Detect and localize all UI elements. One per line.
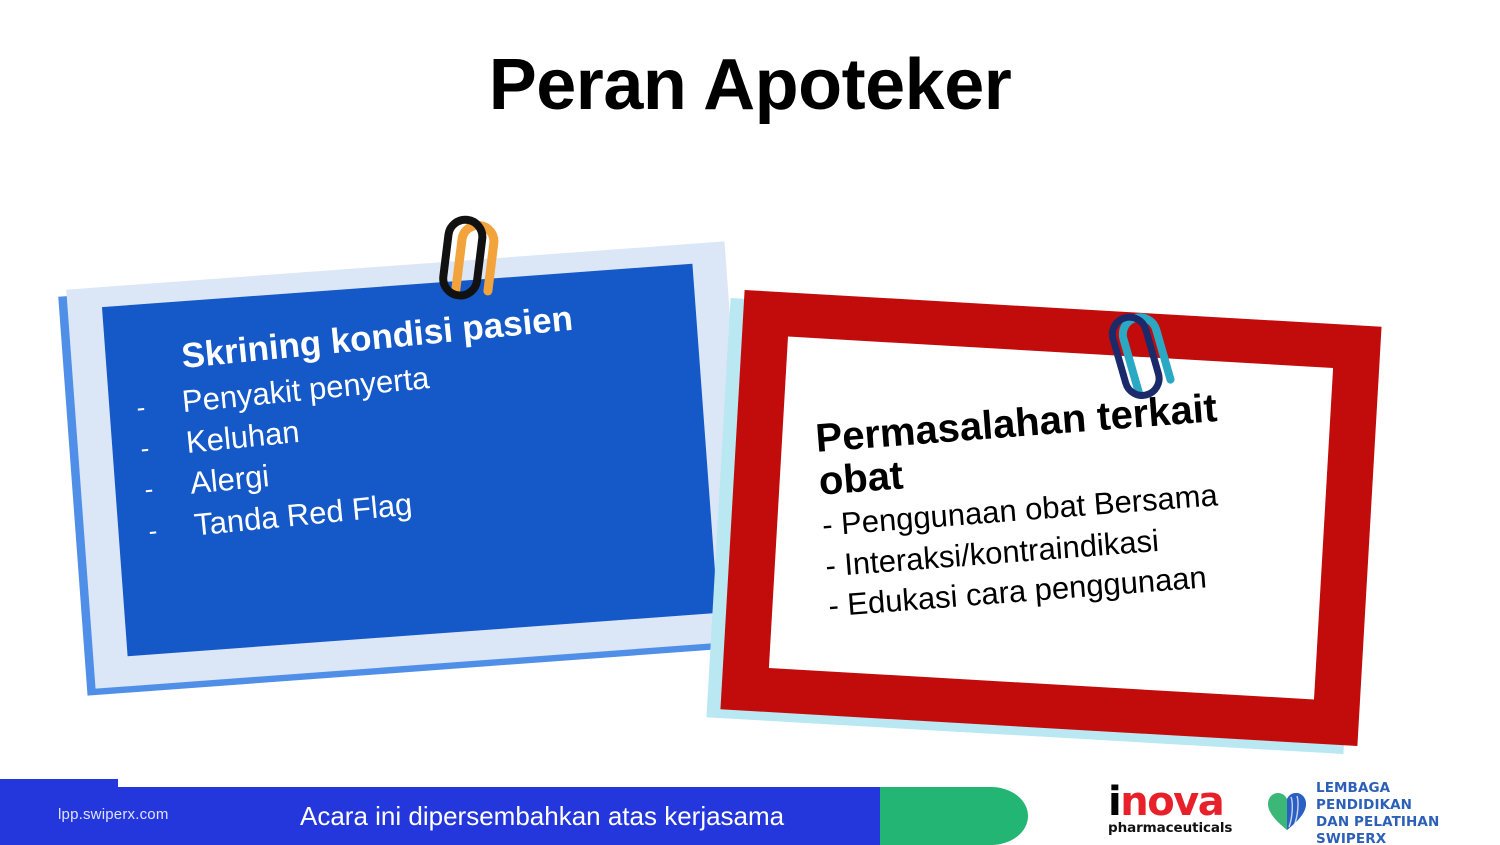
paperclip-icon-orange xyxy=(424,206,508,306)
heart-icon xyxy=(1266,792,1308,837)
bullet-dash: - xyxy=(139,427,188,466)
swiperx-line-1: LEMBAGA PENDIDIKAN xyxy=(1316,780,1412,813)
inova-subtitle: pharmaceuticals xyxy=(1108,820,1258,836)
slide-canvas: Peran Apoteker Skrining kondisi pasien -… xyxy=(0,0,1500,845)
inova-wordmark: inova xyxy=(1108,783,1258,821)
paperclip-icon-teal xyxy=(1098,303,1182,403)
swiperx-logo: LEMBAGA PENDIDIKAN DAN PELATIHAN SWIPERX xyxy=(1266,790,1484,838)
inova-letter-i: i xyxy=(1108,779,1120,825)
footer-green-accent xyxy=(880,787,1028,845)
inova-logo: inova pharmaceuticals xyxy=(1108,783,1258,839)
swiperx-wordmark: LEMBAGA PENDIDIKAN DAN PELATIHAN SWIPERX xyxy=(1316,780,1484,845)
bullet-dash: - xyxy=(143,468,192,507)
red-card: Permasalahan terkait obat - Penggunaan o… xyxy=(718,300,1408,770)
footer-caption: Acara ini dipersembahkan atas kerjasama xyxy=(300,801,784,832)
bullet-dash: - xyxy=(135,386,184,425)
red-card-content: Permasalahan terkait obat - Penggunaan o… xyxy=(814,378,1349,627)
blue-card: Skrining kondisi pasien - Penyakit penye… xyxy=(72,232,762,682)
swiperx-line-2: DAN PELATIHAN SWIPERX xyxy=(1316,814,1439,845)
bullet-dash: - xyxy=(147,509,196,548)
page-title: Peran Apoteker xyxy=(0,48,1500,124)
inova-letters-nova: nova xyxy=(1120,779,1223,825)
footer-url[interactable]: lpp.swiperx.com xyxy=(58,806,169,823)
